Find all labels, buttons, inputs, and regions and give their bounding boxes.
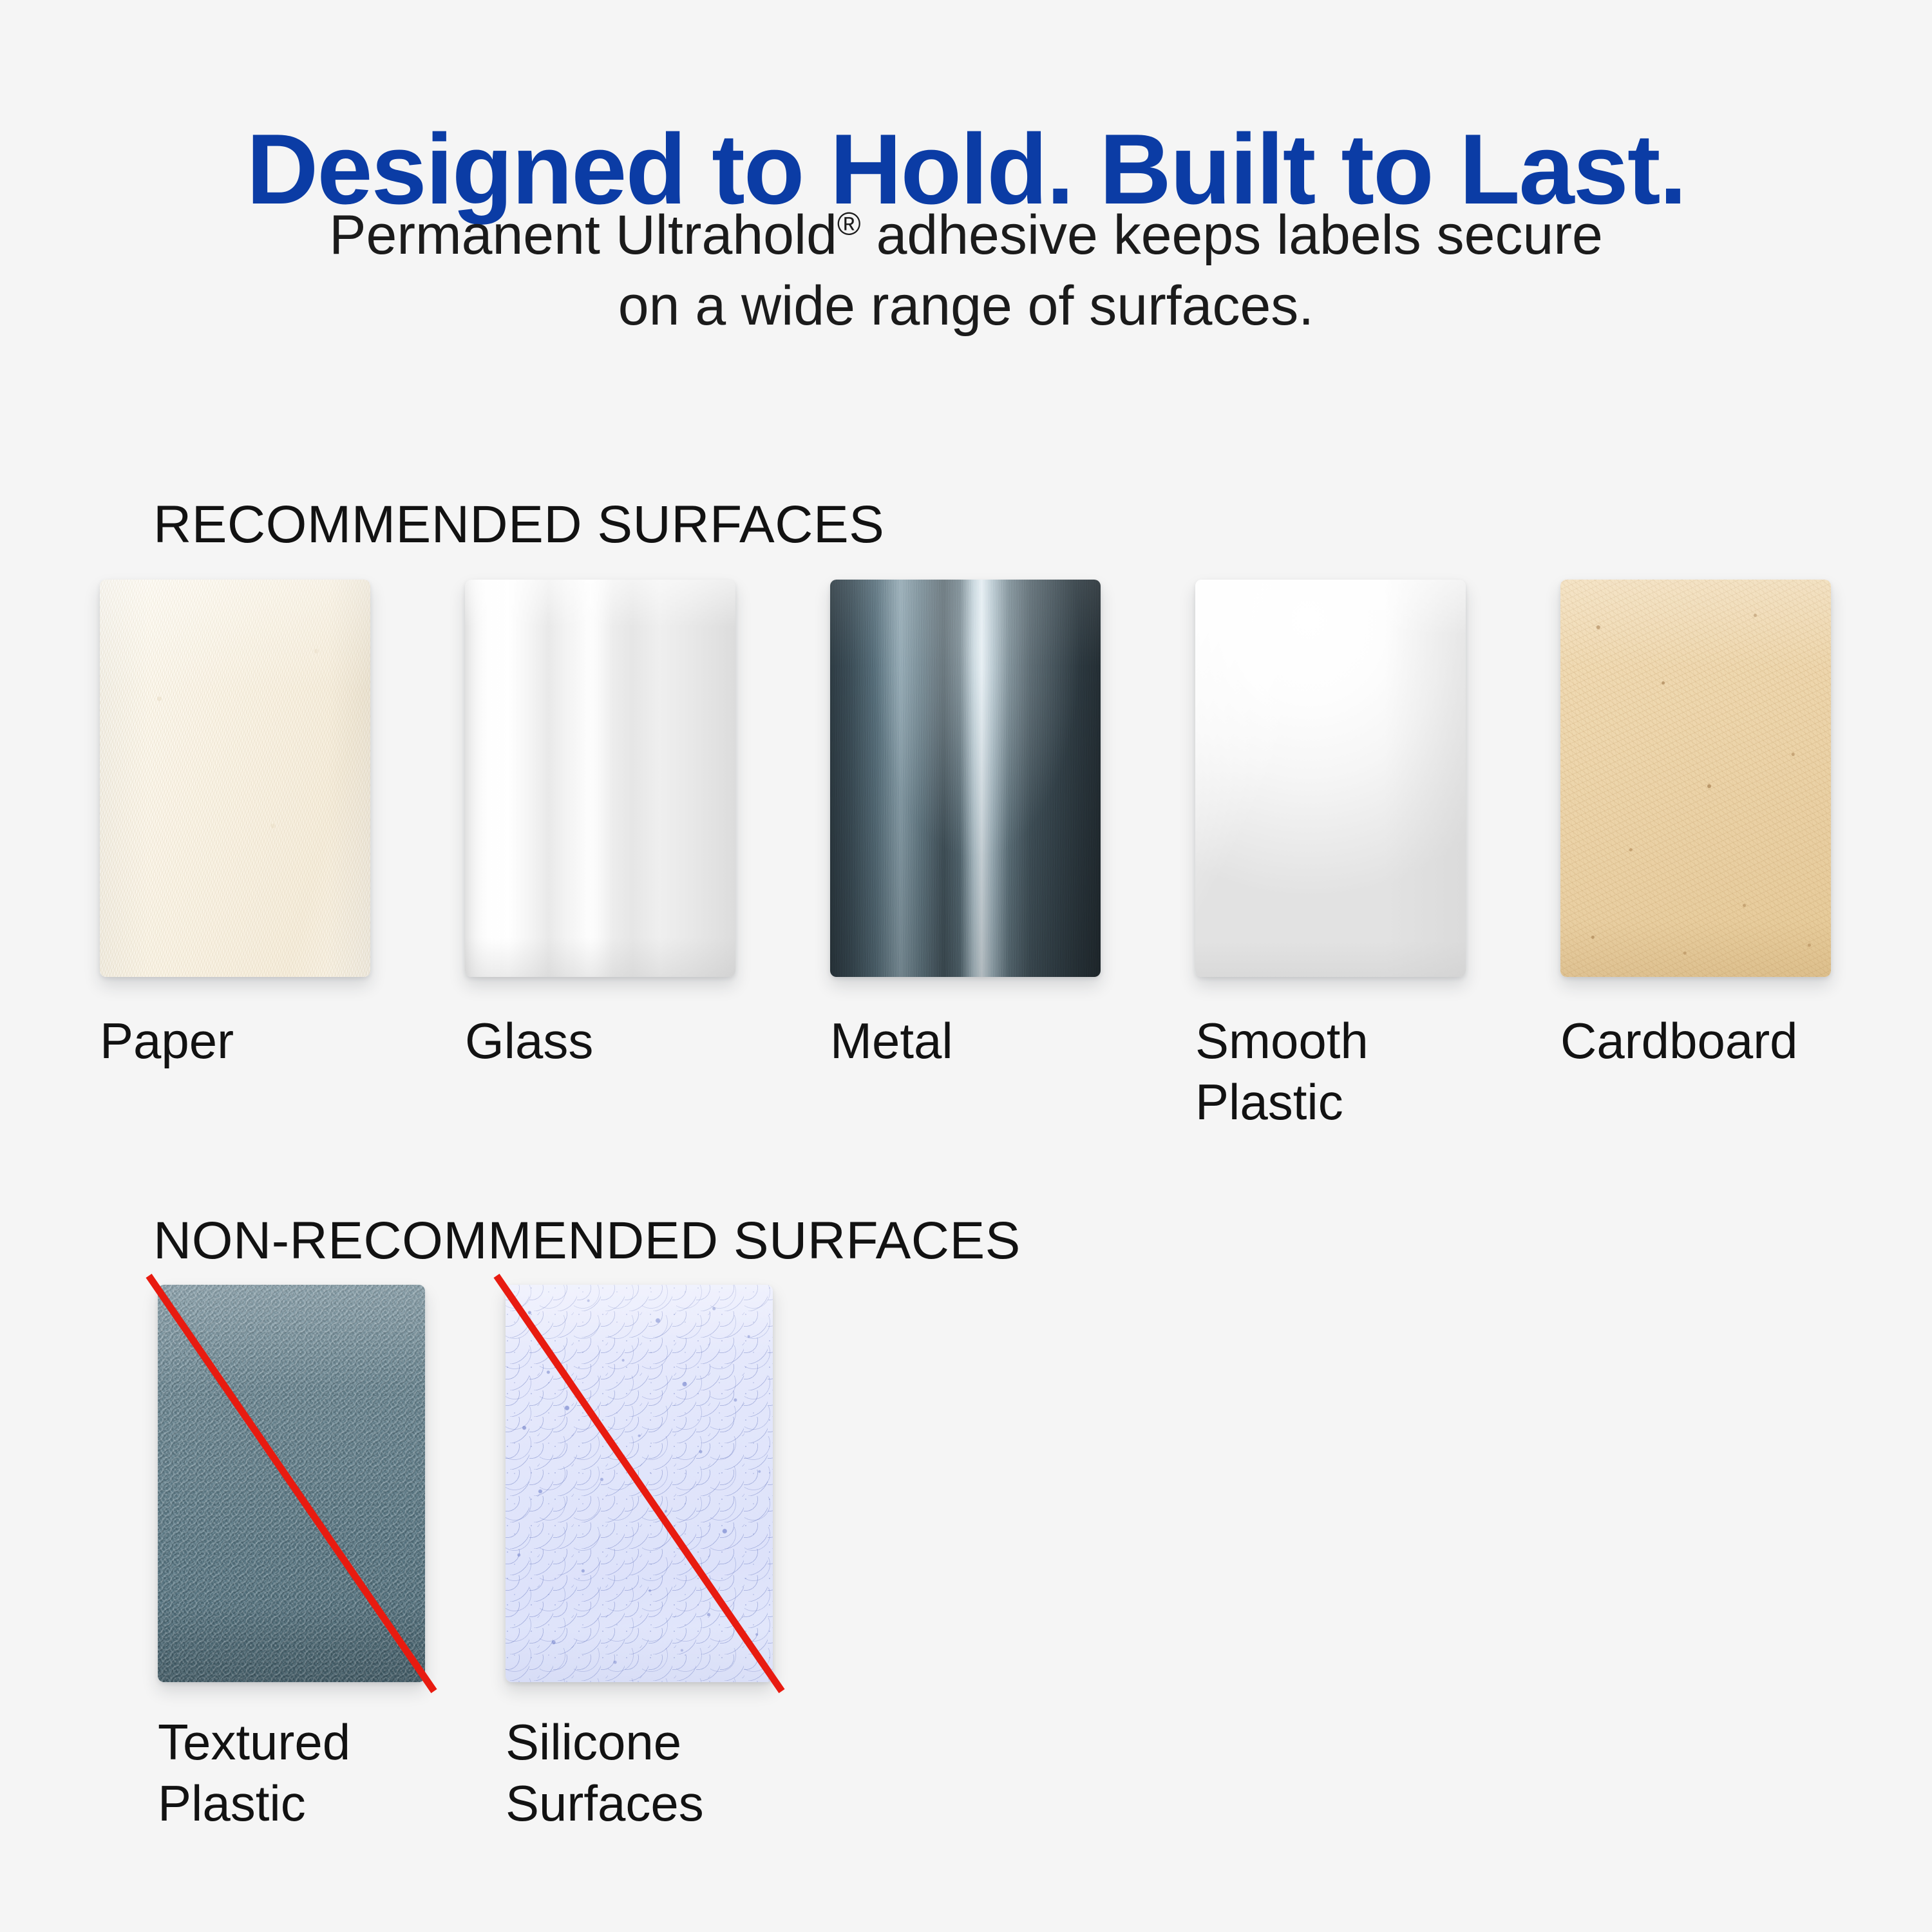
- textured-plastic-shading-layer: [158, 1285, 425, 1682]
- cardboard-swatch: [1560, 580, 1831, 977]
- non-recommended-surfaces-heading: NON-RECOMMENDED SURFACES: [153, 1211, 1021, 1271]
- subheadline-text-before: Permanent Ultrahold: [329, 204, 837, 266]
- surface-card-paper: Paper: [100, 580, 370, 1133]
- cardboard-swatch-wrap: [1560, 580, 1831, 977]
- surface-card-cardboard: Cardboard: [1560, 580, 1831, 1133]
- metal-swatch: [830, 580, 1101, 977]
- surface-card-glass: Glass: [465, 580, 735, 1133]
- paper-shading-layer: [100, 580, 370, 977]
- page-subheadline: Permanent Ultrahold® adhesive keeps labe…: [0, 200, 1932, 341]
- cardboard-shading-layer: [1560, 580, 1831, 977]
- subheadline-line-1: Permanent Ultrahold® adhesive keeps labe…: [0, 200, 1932, 270]
- recommended-surfaces-heading: RECOMMENDED SURFACES: [153, 495, 884, 555]
- surface-card-metal: Metal: [830, 580, 1101, 1133]
- smooth-plastic-swatch: [1195, 580, 1466, 977]
- non-recommended-surfaces-row: Textured Plastic Silicone Surfaces: [158, 1285, 853, 1834]
- metal-vignette-layer: [830, 580, 1101, 977]
- surface-label-glass: Glass: [465, 1010, 735, 1072]
- surface-label-metal: Metal: [830, 1010, 1101, 1072]
- glass-shading-layer: [465, 580, 735, 977]
- registered-trademark-symbol: ®: [837, 205, 861, 241]
- silicone-swatch-wrap: [506, 1285, 773, 1682]
- subheadline-text-after: adhesive keeps labels secure: [861, 204, 1603, 266]
- paper-swatch: [100, 580, 370, 977]
- subheadline-line-2: on a wide range of surfaces.: [0, 270, 1932, 341]
- surface-card-textured-plastic: Textured Plastic: [158, 1285, 425, 1834]
- surface-label-silicone: Silicone Surfaces: [506, 1712, 773, 1834]
- surface-card-silicone: Silicone Surfaces: [506, 1285, 773, 1834]
- textured-plastic-swatch-wrap: [158, 1285, 425, 1682]
- recommended-surfaces-row: Paper Glass Metal: [100, 580, 1831, 1133]
- metal-swatch-wrap: [830, 580, 1101, 977]
- silicone-shading-layer: [506, 1285, 773, 1682]
- silicone-swatch: [506, 1285, 773, 1682]
- smooth-plastic-swatch-wrap: [1195, 580, 1466, 977]
- glass-swatch: [465, 580, 735, 977]
- smooth-plastic-shading-layer: [1195, 580, 1466, 977]
- surface-card-smooth-plastic: Smooth Plastic: [1195, 580, 1466, 1133]
- paper-swatch-wrap: [100, 580, 370, 977]
- surface-label-textured-plastic: Textured Plastic: [158, 1712, 425, 1834]
- surface-label-smooth-plastic: Smooth Plastic: [1195, 1010, 1466, 1133]
- surface-label-paper: Paper: [100, 1010, 370, 1072]
- glass-swatch-wrap: [465, 580, 735, 977]
- infographic-page: Designed to Hold. Built to Last. Permane…: [0, 0, 1932, 1932]
- surface-label-cardboard: Cardboard: [1560, 1010, 1831, 1072]
- textured-plastic-swatch: [158, 1285, 425, 1682]
